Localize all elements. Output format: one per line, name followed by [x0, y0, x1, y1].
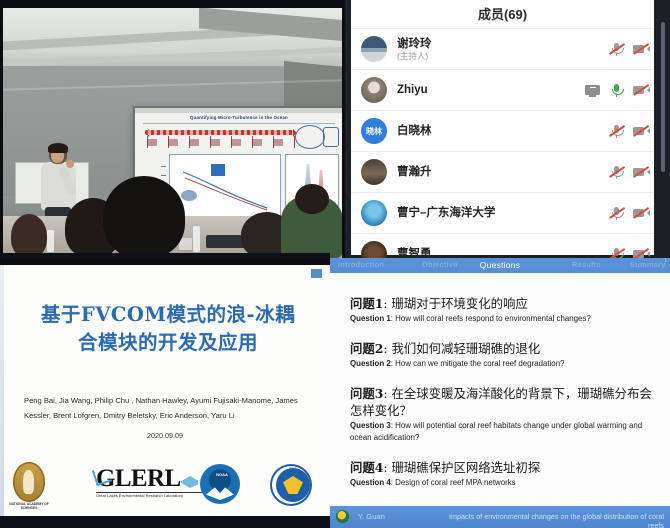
question-en-text: : Design of coral reef MPA networks [391, 478, 516, 487]
question-en-label: Question 4 [350, 478, 391, 487]
question-en-label: Question 1 [350, 314, 391, 323]
nas-logo-text: NATIONAL ACADEMY OF SCIENCES [8, 502, 50, 511]
participant-name-block: 谢玲玲 (主持人) [397, 37, 609, 62]
microphone-muted-icon[interactable] [609, 124, 624, 138]
water-bottle [47, 230, 54, 252]
audience-head [103, 176, 185, 258]
slide-rule [143, 123, 335, 124]
avatar [361, 159, 387, 185]
microphone-on-icon[interactable] [609, 83, 624, 97]
questions-slide[interactable]: Introduction Objective Questions Results… [330, 258, 670, 528]
question-item: 问题2: 我们如何减轻珊瑚礁的退化 Question 2: How can we… [350, 340, 652, 370]
participant-name: 白晓林 [397, 124, 609, 138]
slide-title-line1: 基于FVCOM模式的浪-冰耦 [41, 303, 295, 326]
avatar-initials: 晓林 [361, 118, 387, 144]
question-en-label: Question 2 [350, 359, 391, 368]
participant-row[interactable]: 曹宁–广东海洋大学 [351, 192, 654, 233]
participant-controls[interactable] [585, 83, 648, 97]
question-cn-label: 问题2 [350, 341, 383, 356]
slide-nav-summary[interactable]: Summary [630, 260, 666, 269]
participant-controls[interactable] [609, 206, 648, 220]
water-bottle [193, 226, 200, 252]
question-en-text: : How will potential coral reef habitats… [350, 421, 642, 442]
institution-logo-icon [336, 510, 349, 523]
participant-row[interactable]: 谢玲玲 (主持人) [351, 28, 654, 69]
video-tile[interactable]: Quantifying Micro-Turbulence in the Ocea… [0, 0, 345, 265]
participant-role: (主持人) [397, 51, 609, 62]
participant-name: 曹瀚升 [397, 165, 609, 179]
slide-nav-superscript: 1 [664, 258, 667, 264]
nas-figure [23, 470, 34, 494]
participants-scrollbar[interactable] [661, 22, 665, 172]
spectrum-axis [145, 130, 295, 135]
question-item: 问题1: 珊瑚对于环境变化的响应 Question 1: How will co… [350, 295, 652, 325]
question-en-label: Question 3 [350, 421, 391, 430]
presenter-hair [48, 143, 68, 153]
participant-name-block: Zhiyu [397, 83, 585, 97]
participant-controls[interactable] [609, 165, 648, 179]
participant-name-block: 曹瀚升 [397, 165, 609, 179]
participant-row[interactable]: 曹瀚升 [351, 151, 654, 192]
diagram-circle [295, 125, 325, 149]
questions-body: 问题1: 珊瑚对于环境变化的响应 Question 1: How will co… [330, 273, 670, 506]
slide-corner-mark [311, 269, 322, 278]
avatar [361, 36, 387, 62]
participant-name: 曹宁–广东海洋大学 [397, 206, 609, 220]
camera-off-icon[interactable] [633, 42, 648, 56]
camera-off-icon[interactable] [633, 206, 648, 220]
question-cn-text: : 在全球变暖及海洋酸化的背景下，珊瑚礁分布会怎样变化？ [350, 386, 652, 418]
ouc-logo-text: OUC [270, 467, 316, 471]
question-cn: 问题2: 我们如何减轻珊瑚礁的退化 [350, 340, 652, 357]
slide-nav-questions[interactable]: Questions [330, 260, 670, 270]
participant-name-block: 白晓林 [397, 124, 609, 138]
plot-curve [179, 166, 271, 212]
slide-footer-bar [0, 516, 330, 528]
question-en: Question 4: Design of coral reef MPA net… [350, 477, 652, 489]
microphone-muted-icon[interactable] [609, 206, 624, 220]
question-en: Question 3: How will potential coral ree… [350, 420, 652, 444]
projected-slide-title: Quantifying Micro-Turbulence in the Ocea… [135, 115, 342, 120]
audience-head [11, 214, 47, 258]
ocean-university-logo: OUC [268, 464, 314, 510]
participant-name: Zhiyu [397, 83, 585, 97]
screen-top-bar [135, 108, 342, 113]
slide-footer-bar: Y. Guan Impacts of environmental changes… [330, 506, 670, 528]
slide-date: 2020.09.09 [0, 431, 330, 440]
axis-tick-labels [147, 136, 295, 148]
camera-off-icon[interactable] [633, 83, 648, 97]
slide-nav-bar[interactable]: Introduction Objective Questions Results… [330, 258, 670, 273]
presenter-name: Y. Guan [358, 512, 385, 521]
camera-off-icon[interactable] [633, 165, 648, 179]
participants-list[interactable]: 成员(69) 谢玲玲 (主持人) [351, 0, 654, 255]
question-en-text: : How will coral reefs respond to enviro… [391, 314, 591, 323]
glerl-logo: GLERL Great Lakes Environmental Research… [96, 466, 214, 508]
presenter-hand [66, 160, 74, 168]
presentation-title: Impacts of environmental changes on the … [438, 512, 664, 528]
slide-nav-results[interactable]: Results [572, 260, 601, 269]
question-cn: 问题3: 在全球变暖及海洋酸化的背景下，珊瑚礁分布会怎样变化？ [350, 385, 652, 419]
camera-off-icon[interactable] [633, 124, 648, 138]
slide-title-line2: 合模块的开发及应用 [78, 331, 258, 354]
meeting-screen: Quantifying Micro-Turbulence in the Ocea… [0, 0, 670, 528]
noaa-circle: NOAA [200, 464, 240, 504]
noaa-logo: NOAA [198, 464, 242, 508]
question-cn: 问题4: 珊瑚礁保护区网络选址初探 [350, 459, 652, 476]
slide-title: 基于FVCOM模式的浪-冰耦 合模块的开发及应用 [26, 301, 310, 357]
question-item: 问题4: 珊瑚礁保护区网络选址初探 Question 4: Design of … [350, 459, 652, 489]
question-cn-text: : 珊瑚对于环境变化的响应 [383, 296, 527, 311]
avatar [361, 200, 387, 226]
glerl-wave-icon [90, 464, 124, 486]
question-cn: 问题1: 珊瑚对于环境变化的响应 [350, 295, 652, 312]
participant-name: 谢玲玲 [397, 37, 609, 51]
participant-row[interactable]: Zhiyu [351, 69, 654, 110]
microphone-muted-icon[interactable] [609, 42, 624, 56]
audience-head [295, 184, 329, 214]
question-cn-label: 问题4 [350, 460, 383, 475]
question-item: 问题3: 在全球变暖及海洋酸化的背景下，珊瑚礁分布会怎样变化？ Question… [350, 385, 652, 444]
participant-name-block: 曹宁–广东海洋大学 [397, 206, 609, 220]
participant-controls[interactable] [609, 124, 648, 138]
diagram-box [323, 127, 339, 147]
question-cn-text: : 我们如何减轻珊瑚礁的退化 [383, 341, 540, 356]
lecture-room-photo: Quantifying Micro-Turbulence in the Ocea… [3, 8, 342, 258]
question-en: Question 1: How will coral reefs respond… [350, 313, 652, 325]
microphone-muted-icon[interactable] [609, 165, 624, 179]
participant-row[interactable]: 晓林 白晓林 [351, 110, 654, 151]
panel-divider [0, 253, 330, 258]
question-cn-text: : 珊瑚礁保护区网络选址初探 [383, 460, 540, 475]
slide-authors: Peng Bai, Jia Wang, Philip Chu , Nathan … [24, 393, 306, 423]
laptop [206, 235, 246, 248]
avatar [361, 77, 387, 103]
question-cn-label: 问题3 [350, 386, 383, 401]
question-en-text: : How can we mitigate the coral reef deg… [391, 359, 565, 368]
participants-title: 成员(69) [351, 0, 654, 28]
question-en: Question 2: How can we mitigate the cora… [350, 358, 652, 370]
participant-controls[interactable] [609, 42, 648, 56]
noaa-logo-text: NOAA [200, 472, 244, 477]
screen-share-icon[interactable] [585, 83, 600, 97]
cup [179, 238, 192, 250]
slide-logos: NATIONAL ACADEMY OF SCIENCES GLERL Great… [0, 462, 330, 514]
nas-logo: NATIONAL ACADEMY OF SCIENCES [8, 462, 50, 512]
ouc-circle: OUC [270, 464, 312, 506]
question-cn-label: 问题1 [350, 296, 383, 311]
title-slide[interactable]: 基于FVCOM模式的浪-冰耦 合模块的开发及应用 Peng Bai, Jia W… [0, 265, 330, 528]
participants-panel: 成员(69) 谢玲玲 (主持人) [345, 0, 670, 263]
